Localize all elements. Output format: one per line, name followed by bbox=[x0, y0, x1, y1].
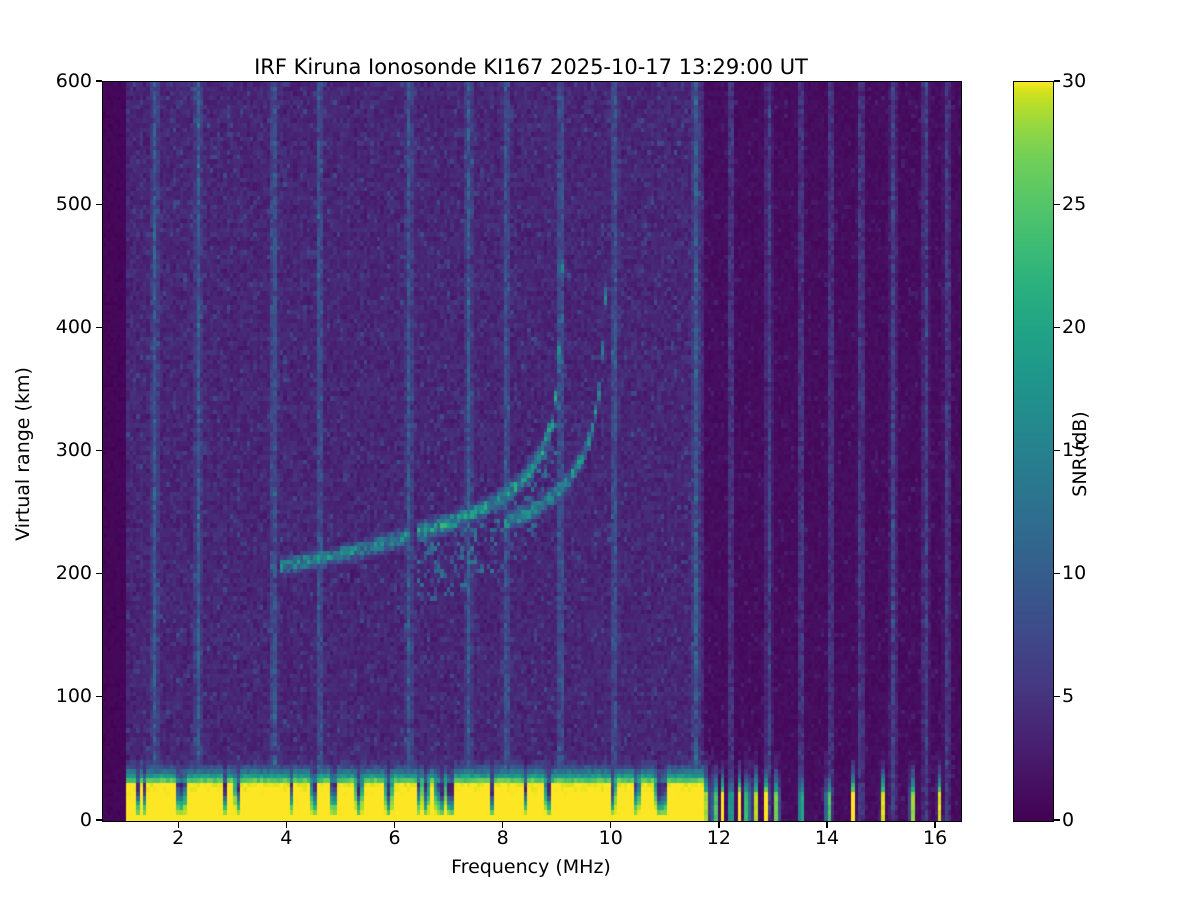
colorbar-tick-mark bbox=[1054, 696, 1061, 697]
colorbar-tick-mark bbox=[1054, 80, 1061, 81]
y-axis-label: Virtual range (km) bbox=[12, 74, 34, 834]
x-tick-mark bbox=[394, 821, 395, 828]
x-tick-mark bbox=[934, 821, 935, 828]
y-tick-mark bbox=[96, 327, 103, 328]
y-tick-mark bbox=[96, 819, 103, 820]
plot-area bbox=[102, 81, 962, 822]
x-tick-label: 4 bbox=[246, 829, 326, 848]
x-tick-mark bbox=[718, 821, 719, 828]
x-tick-label: 16 bbox=[895, 829, 975, 848]
y-tick-mark bbox=[96, 204, 103, 205]
colorbar-tick-mark bbox=[1054, 204, 1061, 205]
x-tick-label: 14 bbox=[787, 829, 867, 848]
ionogram-heatmap bbox=[103, 82, 961, 821]
x-tick-mark bbox=[502, 821, 503, 828]
y-tick-mark bbox=[96, 450, 103, 451]
colorbar-tick-mark bbox=[1054, 819, 1061, 820]
x-tick-label: 12 bbox=[679, 829, 759, 848]
x-tick-mark bbox=[178, 821, 179, 828]
x-tick-label: 6 bbox=[354, 829, 434, 848]
x-tick-mark bbox=[286, 821, 287, 828]
x-tick-label: 8 bbox=[463, 829, 543, 848]
x-tick-mark bbox=[610, 821, 611, 828]
ionogram-figure: IRF Kiruna Ionosonde KI167 2025-10-17 13… bbox=[0, 0, 1200, 900]
y-tick-mark bbox=[96, 696, 103, 697]
x-tick-label: 2 bbox=[138, 829, 218, 848]
colorbar bbox=[1013, 81, 1054, 822]
y-tick-mark bbox=[96, 573, 103, 574]
colorbar-tick-mark bbox=[1054, 573, 1061, 574]
title-line-1: IRF Kiruna Ionosonde KI167 2025-10-17 13… bbox=[0, 52, 1062, 82]
x-tick-label: 10 bbox=[571, 829, 651, 848]
colorbar-tick-mark bbox=[1054, 327, 1061, 328]
y-tick-mark bbox=[96, 80, 103, 81]
x-tick-mark bbox=[826, 821, 827, 828]
colorbar-tick-mark bbox=[1054, 450, 1061, 451]
colorbar-label: SNR (dB) bbox=[1069, 74, 1091, 834]
x-axis-label: Frequency (MHz) bbox=[102, 856, 960, 878]
